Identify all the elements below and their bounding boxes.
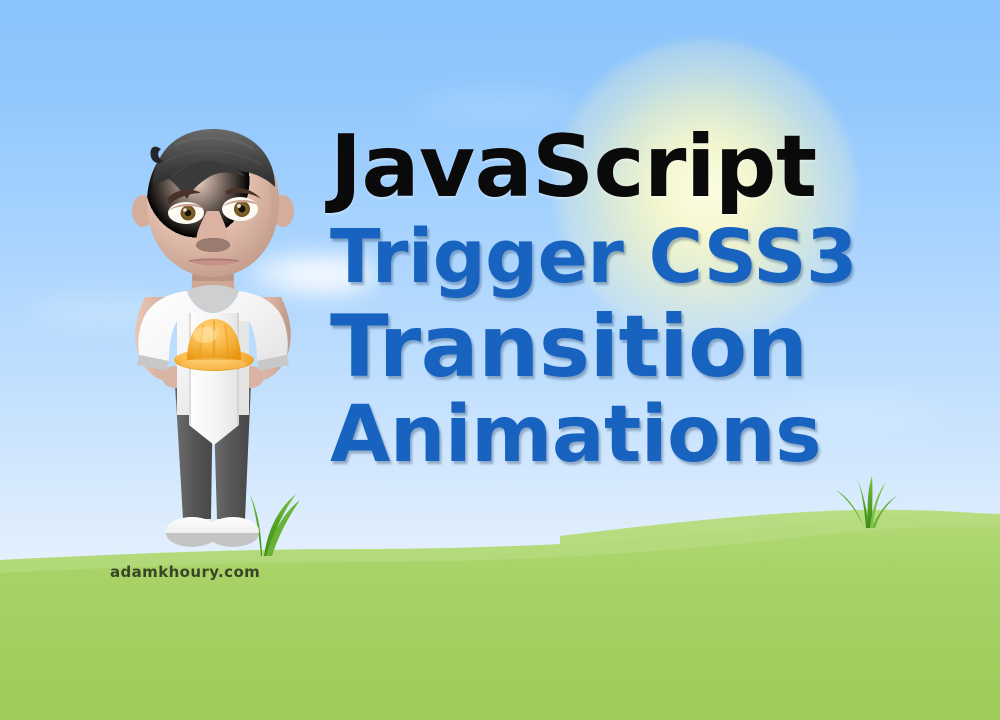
title-block: JavaScript Trigger CSS3 Transition Anima… — [330, 124, 950, 480]
video-thumbnail: JavaScript Trigger CSS3 Transition Anima… — [0, 0, 1000, 720]
title-line-javascript: JavaScript — [330, 124, 950, 216]
title-line-trigger-css3: Trigger CSS3 — [330, 220, 950, 302]
site-watermark: adamkhoury.com — [110, 563, 260, 581]
title-line-animations: Animations — [330, 396, 950, 480]
title-line-transition: Transition — [330, 304, 950, 398]
cartoon-man — [95, 115, 325, 565]
shoes — [166, 517, 259, 547]
head — [132, 129, 294, 277]
